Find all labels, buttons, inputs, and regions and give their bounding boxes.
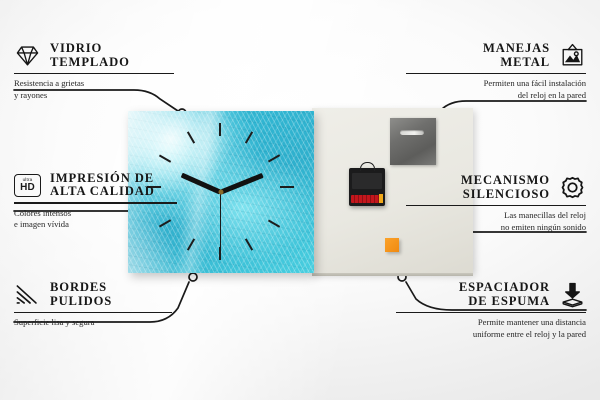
feature-heading: ultra HD IMPRESIÓN DE ALTA CALIDAD (14, 172, 190, 198)
feature-description: Colores intensos e imagen vívida (14, 208, 190, 231)
feature-title-line: TEMPLADO (50, 56, 130, 69)
feature-title: VIDRIO TEMPLADO (50, 42, 130, 68)
feature-bordes-pulidos[interactable]: BORDES PULIDOS Superficie lisa y segura (14, 281, 186, 329)
feature-vidrio-templado[interactable]: VIDRIO TEMPLADO Resistencia a grietas y … (14, 42, 186, 101)
feature-heading: ESPACIADOR DE ESPUMA (396, 281, 586, 308)
feature-divider (396, 312, 586, 313)
feature-title-line: VIDRIO (50, 42, 130, 55)
hand-center-cap (219, 190, 224, 195)
foam-spacer-pad (385, 238, 399, 252)
feature-mecanismo-silencioso[interactable]: MECANISMO SILENCIOSO Las manecillas del … (406, 174, 586, 233)
gear-icon (559, 174, 586, 201)
feature-divider (14, 73, 174, 74)
second-hand (220, 192, 221, 250)
feature-title: ESPACIADOR DE ESPUMA (459, 281, 550, 307)
feature-title-line: SILENCIOSO (461, 188, 550, 201)
ultra-hd-icon-large-text: HD (20, 183, 35, 193)
feature-title-line: DE ESPUMA (459, 295, 550, 308)
hour-marker (280, 186, 294, 188)
metal-hanger-plate (390, 118, 436, 165)
feature-title-line: MANEJAS (483, 42, 550, 55)
feature-title-line: MECANISMO (461, 174, 550, 187)
feature-title: MECANISMO SILENCIOSO (461, 174, 550, 200)
feature-description: Permiten una fácil instalación del reloj… (406, 78, 586, 101)
clock-mechanism (349, 168, 385, 206)
ultra-hd-icon: ultra HD (14, 174, 41, 197)
feature-divider (406, 73, 586, 74)
picture-hanger-icon (559, 42, 586, 69)
polished-edge-icon (14, 281, 41, 308)
feature-title: BORDES PULIDOS (50, 281, 112, 307)
feature-description: Superficie lisa y segura (14, 317, 186, 329)
battery-terminal (379, 194, 383, 203)
feature-title-line: PULIDOS (50, 295, 112, 308)
feature-heading: VIDRIO TEMPLADO (14, 42, 186, 69)
feature-heading: MANEJAS METAL (406, 42, 586, 69)
feature-divider (14, 312, 172, 313)
feature-title-line: METAL (483, 56, 550, 69)
feature-heading: MECANISMO SILENCIOSO (406, 174, 586, 201)
feature-title: IMPRESIÓN DE ALTA CALIDAD (50, 172, 155, 198)
feature-title-line: ESPACIADOR (459, 281, 550, 294)
feature-title-line: BORDES (50, 281, 112, 294)
mechanism-housing (352, 173, 382, 189)
diamond-icon (14, 42, 41, 69)
hanger-slot (400, 130, 424, 135)
feature-divider (14, 202, 177, 203)
feature-description: Las manecillas del reloj no emiten ningú… (406, 210, 586, 233)
feature-heading: BORDES PULIDOS (14, 281, 186, 308)
infographic-canvas: VIDRIO TEMPLADO Resistencia a grietas y … (0, 0, 600, 400)
mechanism-hanging-loop (360, 162, 375, 171)
feature-espaciador-espuma[interactable]: ESPACIADOR DE ESPUMA Permite mantener un… (396, 281, 586, 340)
feature-title: MANEJAS METAL (483, 42, 550, 68)
feature-description: Resistencia a grietas y rayones (14, 78, 186, 101)
hour-marker (219, 123, 221, 136)
feature-impresion-alta-calidad[interactable]: ultra HD IMPRESIÓN DE ALTA CALIDAD Color… (14, 172, 190, 231)
feature-description: Permite mantener una distancia uniforme … (396, 317, 586, 340)
foam-spacer-icon (559, 281, 586, 308)
feature-manejas-metal[interactable]: MANEJAS METAL Permiten una fácil instala… (406, 42, 586, 101)
feature-divider (406, 205, 586, 206)
feature-title-line: ALTA CALIDAD (50, 185, 155, 198)
